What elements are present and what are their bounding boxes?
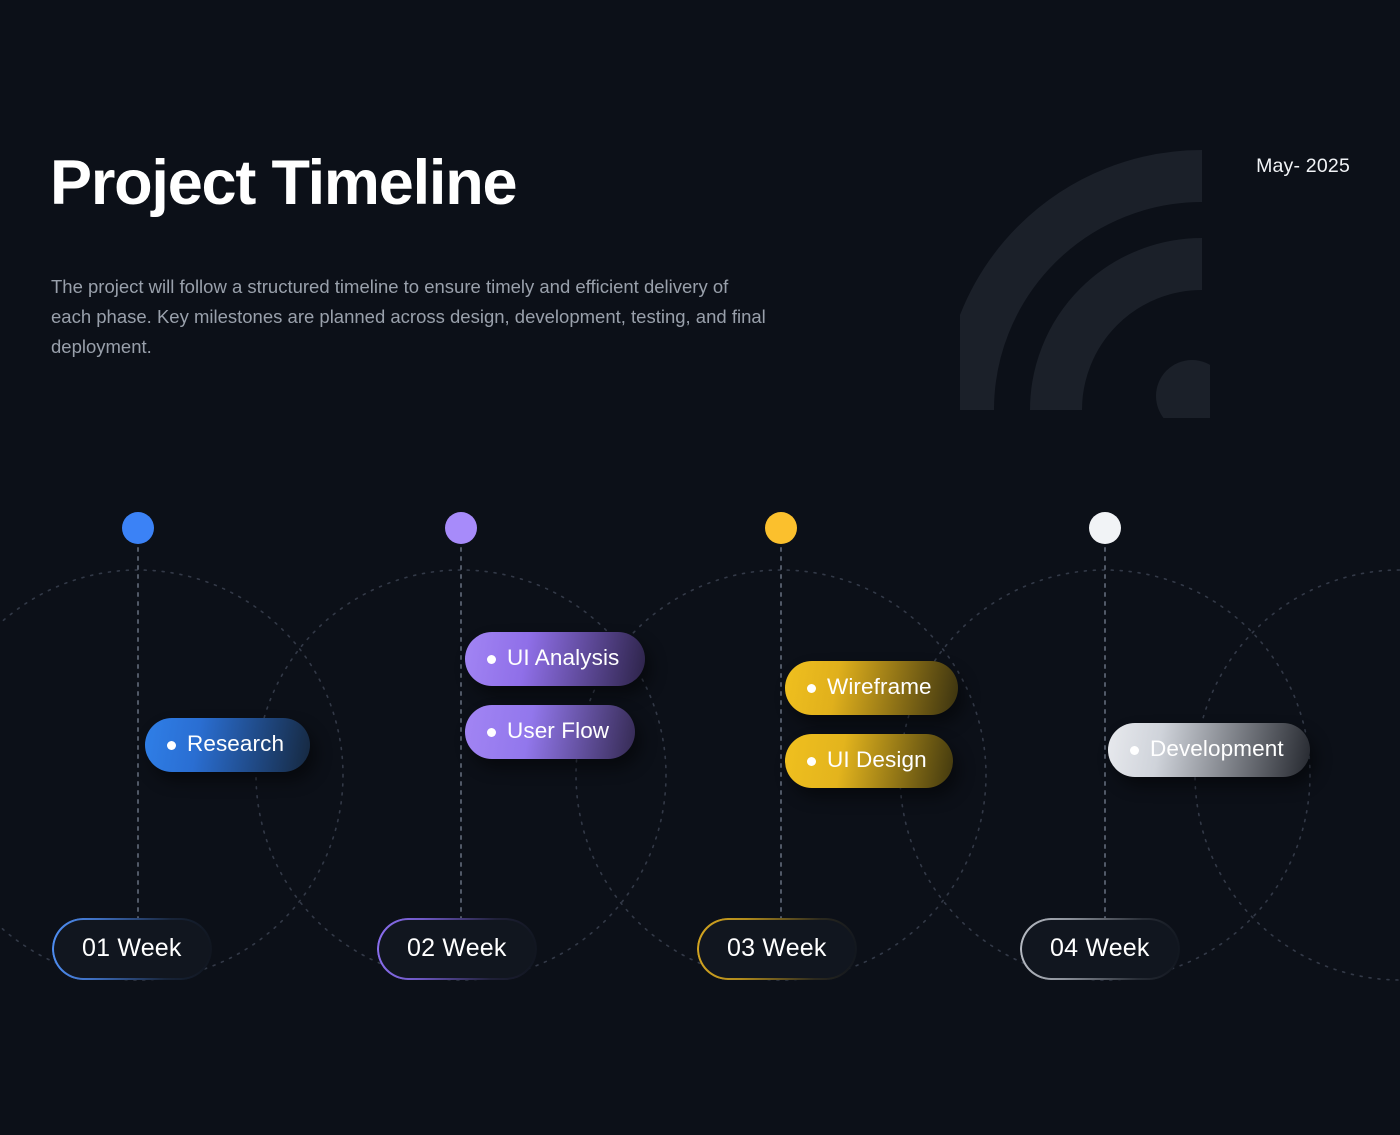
task-label: UI Design [827,747,927,773]
task-pill-research[interactable]: Research [145,718,310,772]
task-label: Research [187,731,284,757]
marker-dot-week-04[interactable] [1089,512,1121,544]
page-title: Project Timeline [50,150,516,216]
task-pill-ui-analysis[interactable]: UI Analysis [465,632,645,686]
bullet-icon [487,655,496,664]
marker-dot-week-02[interactable] [445,512,477,544]
task-pill-ui-design[interactable]: UI Design [785,734,953,788]
task-pill-development[interactable]: Development [1108,723,1310,777]
slide-canvas: Project Timeline The project will follow… [0,0,1400,1135]
task-label: User Flow [507,718,609,744]
week-label: 04 Week [1050,934,1150,963]
bullet-icon [807,757,816,766]
week-chip-01[interactable]: 01 Week [52,918,212,980]
page-description: The project will follow a structured tim… [51,272,771,362]
marker-dot-week-03[interactable] [765,512,797,544]
bullet-icon [807,684,816,693]
date-label: May- 2025 [1256,155,1350,178]
bullet-icon [1130,746,1139,755]
task-label: UI Analysis [507,645,619,671]
bullet-icon [487,728,496,737]
rss-signal-icon [960,128,1210,418]
week-chip-03[interactable]: 03 Week [697,918,857,980]
task-label: Wireframe [827,674,932,700]
task-pill-user-flow[interactable]: User Flow [465,705,635,759]
bullet-icon [167,741,176,750]
week-label: 03 Week [727,934,827,963]
week-chip-04[interactable]: 04 Week [1020,918,1180,980]
week-chip-02[interactable]: 02 Week [377,918,537,980]
task-pill-wireframe[interactable]: Wireframe [785,661,958,715]
marker-dot-week-01[interactable] [122,512,154,544]
week-label: 02 Week [407,934,507,963]
task-label: Development [1150,736,1284,762]
week-label: 01 Week [82,934,182,963]
